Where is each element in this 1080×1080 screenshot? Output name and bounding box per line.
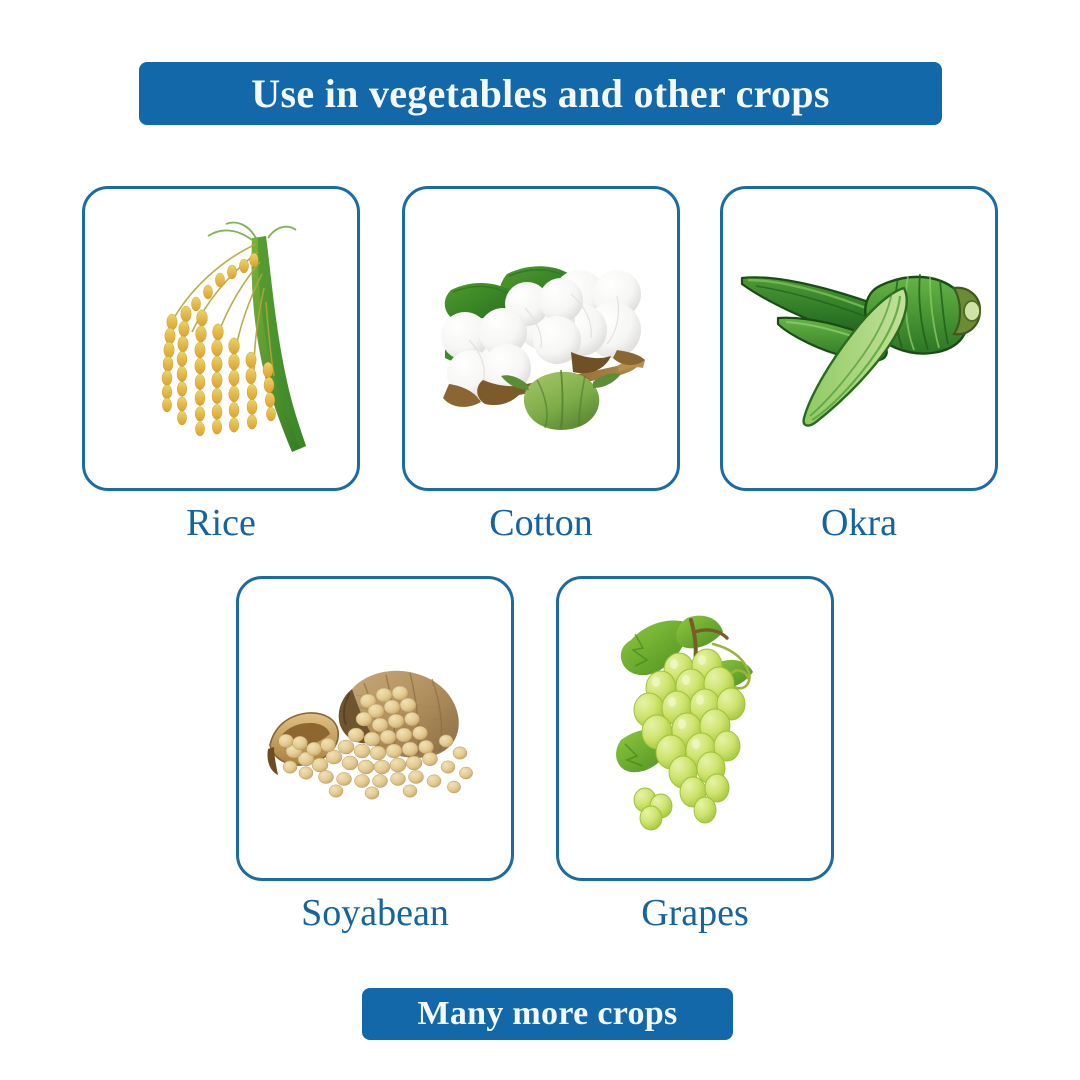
- crop-card-soyabean[interactable]: Soyabean: [236, 576, 514, 937]
- crop-card-frame[interactable]: [82, 186, 360, 491]
- footer-banner: Many more crops: [362, 988, 733, 1040]
- crop-card-label: Rice: [82, 499, 360, 547]
- cotton-boll-icon: [421, 234, 661, 444]
- crop-card-label: Soyabean: [236, 889, 514, 937]
- crop-card-frame[interactable]: [556, 576, 834, 881]
- crop-card-frame[interactable]: [720, 186, 998, 491]
- crop-card-grapes[interactable]: Grapes: [556, 576, 834, 937]
- crop-card-okra[interactable]: Okra: [720, 186, 998, 547]
- crop-card-cotton[interactable]: Cotton: [402, 186, 680, 547]
- grape-bunch-icon: [595, 604, 795, 854]
- crop-card-label: Grapes: [556, 889, 834, 937]
- crop-card-label: Okra: [720, 499, 998, 547]
- crop-card-frame[interactable]: [236, 576, 514, 881]
- rice-panicle-icon: [116, 214, 326, 464]
- header-title: Use in vegetables and other crops: [251, 70, 829, 117]
- okra-pods-icon: [734, 244, 984, 434]
- crop-card-rice[interactable]: Rice: [82, 186, 360, 547]
- header-banner: Use in vegetables and other crops: [139, 62, 942, 125]
- crop-card-frame[interactable]: [402, 186, 680, 491]
- footer-title: Many more crops: [417, 995, 677, 1033]
- soybean-sack-icon: [260, 649, 490, 809]
- crop-card-label: Cotton: [402, 499, 680, 547]
